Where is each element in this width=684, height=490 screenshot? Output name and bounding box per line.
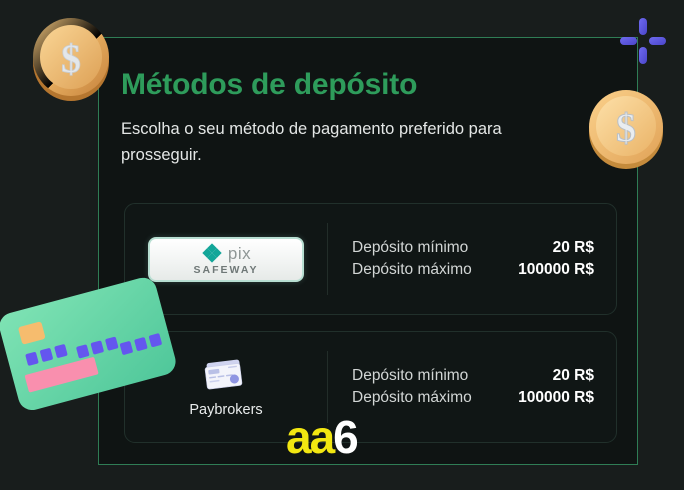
payment-method-logo-cell: Paybrokers bbox=[125, 332, 327, 442]
pix-wordmark: pix bbox=[228, 245, 251, 262]
payment-method-row[interactable]: Paybrokers Depósito mínimo 20 R$ Depósit… bbox=[124, 331, 617, 443]
page-title: Métodos de depósito bbox=[121, 68, 417, 102]
payment-method-row[interactable]: pix SAFEWAY Depósito mínimo 20 R$ Depósi… bbox=[124, 203, 617, 315]
max-deposit-value: 100000 R$ bbox=[518, 261, 594, 279]
min-deposit-label: Depósito mínimo bbox=[352, 367, 468, 385]
paybrokers-label: Paybrokers bbox=[189, 402, 262, 418]
deposit-methods-panel: Métodos de depósito Escolha o seu método… bbox=[98, 37, 638, 465]
pix-mark: pix bbox=[201, 242, 251, 264]
pix-diamond-icon bbox=[201, 242, 223, 264]
min-deposit-value: 20 R$ bbox=[553, 367, 594, 385]
max-deposit-label: Depósito máximo bbox=[352, 261, 472, 279]
payment-method-info: Depósito mínimo 20 R$ Depósito máximo 10… bbox=[328, 367, 616, 407]
payment-method-logo-cell: pix SAFEWAY bbox=[125, 204, 327, 314]
max-deposit-label: Depósito máximo bbox=[352, 389, 472, 407]
min-deposit-line: Depósito mínimo 20 R$ bbox=[352, 367, 594, 385]
page-subtitle: Escolha o seu método de pagamento prefer… bbox=[121, 116, 573, 168]
min-deposit-value: 20 R$ bbox=[553, 239, 594, 257]
max-deposit-line: Depósito máximo 100000 R$ bbox=[352, 261, 594, 279]
credit-card-icon bbox=[203, 357, 249, 395]
min-deposit-line: Depósito mínimo 20 R$ bbox=[352, 239, 594, 257]
svg-text:$: $ bbox=[61, 36, 81, 81]
payment-method-info: Depósito mínimo 20 R$ Depósito máximo 10… bbox=[328, 239, 616, 279]
max-deposit-value: 100000 R$ bbox=[518, 389, 594, 407]
safeway-wordmark: SAFEWAY bbox=[194, 265, 259, 276]
max-deposit-line: Depósito máximo 100000 R$ bbox=[352, 389, 594, 407]
deposit-methods-screen: Métodos de depósito Escolha o seu método… bbox=[0, 0, 684, 490]
min-deposit-label: Depósito mínimo bbox=[352, 239, 468, 257]
pix-safeway-logo: pix SAFEWAY bbox=[148, 237, 304, 282]
